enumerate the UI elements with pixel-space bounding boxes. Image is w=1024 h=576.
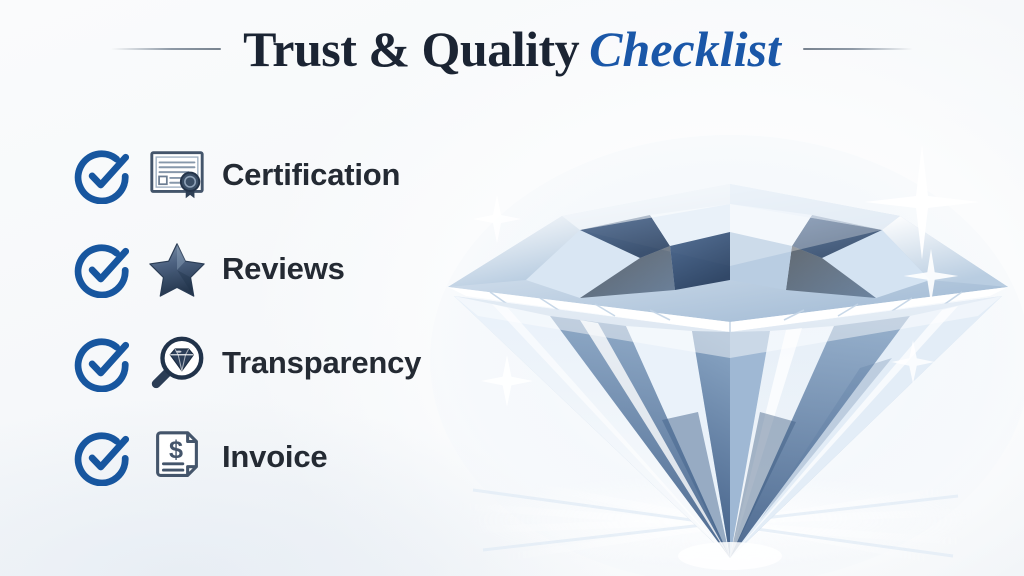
page-title: Trust & QualityChecklist — [243, 22, 781, 76]
header-rule-left — [111, 48, 221, 50]
check-circle-icon[interactable] — [74, 334, 132, 392]
poster-canvas: Trust & QualityChecklist — [0, 0, 1024, 576]
svg-text:$: $ — [169, 436, 183, 464]
invoice-dollar-icon: $ — [146, 426, 208, 488]
checklist-item-label: Certification — [222, 157, 400, 193]
header-rule-right — [803, 48, 913, 50]
checklist-item-label: Invoice — [222, 439, 327, 475]
certificate-icon — [146, 144, 208, 206]
check-circle-icon[interactable] — [74, 240, 132, 298]
star-icon — [146, 238, 208, 300]
page-title-accent: Checklist — [589, 21, 781, 77]
magnifier-diamond-icon — [146, 332, 208, 394]
checklist-item-label: Reviews — [222, 251, 345, 287]
check-circle-icon[interactable] — [74, 146, 132, 204]
diamond-image — [430, 120, 1024, 576]
diamond-hero — [430, 120, 1024, 576]
check-circle-icon[interactable] — [74, 428, 132, 486]
page-title-main: Trust & Quality — [243, 21, 579, 77]
checklist-item-label: Transparency — [222, 345, 421, 381]
header: Trust & QualityChecklist — [0, 22, 1024, 76]
